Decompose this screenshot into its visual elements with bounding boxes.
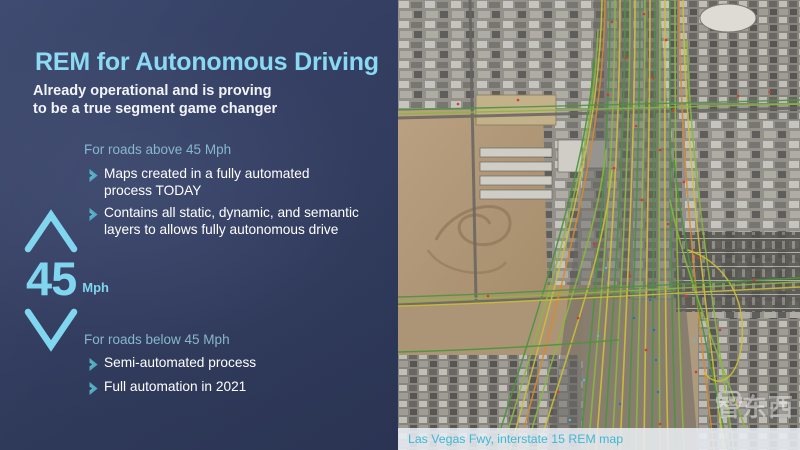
page-subtitle: Already operational and is proving to be… [33, 82, 277, 118]
speed-unit: Mph [82, 280, 109, 295]
speed-number: 45 [26, 258, 76, 300]
list-item-text: Contains all static, dynamic, and semant… [104, 205, 359, 238]
list-item-line-1: Contains all static, dynamic, and semant… [104, 205, 359, 222]
map-graphic [398, 0, 800, 450]
list-item-line-2: layers to allows fully autonomous drive [104, 222, 359, 239]
list-item-text: Semi-automated process [104, 355, 256, 372]
bullet-list-below: Semi-automated process Full automation i… [88, 355, 388, 403]
chevron-right-bullet-icon [88, 167, 103, 184]
list-item-line-1: Maps created in a fully automated [104, 166, 309, 183]
chevron-right-bullet-icon [88, 380, 103, 397]
slide-root: REM for Autonomous Driving Already opera… [0, 0, 800, 450]
bullet-list-above: Maps created in a fully automated proces… [88, 166, 388, 244]
chevron-right-bullet-icon [88, 206, 103, 223]
list-item: Contains all static, dynamic, and semant… [88, 205, 388, 238]
chevron-up-icon [24, 208, 78, 253]
chevron-right-bullet-icon [88, 356, 103, 373]
list-item: Semi-automated process [88, 355, 388, 373]
speed-threshold-value: 45 Mph [26, 258, 109, 300]
chevron-down-icon [24, 308, 78, 353]
list-item: Maps created in a fully automated proces… [88, 166, 388, 199]
subtitle-line-2: to be a true segment game changer [33, 100, 277, 118]
map-caption-text: Las Vegas Fwy, interstate 15 REM map [408, 432, 623, 446]
left-content-panel: REM for Autonomous Driving Already opera… [0, 0, 398, 450]
aerial-map-image: 智东西 Las Vegas Fwy, interstate 15 REM map [398, 0, 800, 450]
watermark: 智东西 [716, 388, 794, 424]
robot-icon [716, 388, 742, 412]
list-item-line-1: Full automation in 2021 [104, 379, 246, 396]
map-caption: Las Vegas Fwy, interstate 15 REM map [398, 428, 800, 450]
subtitle-line-1: Already operational and is proving [33, 82, 277, 100]
section-heading-above: For roads above 45 Mph [84, 142, 231, 157]
list-item-text: Full automation in 2021 [104, 379, 246, 396]
section-heading-below: For roads below 45 Mph [84, 332, 230, 347]
list-item: Full automation in 2021 [88, 379, 388, 397]
list-item-line-1: Semi-automated process [104, 355, 256, 372]
list-item-text: Maps created in a fully automated proces… [104, 166, 309, 199]
page-title: REM for Autonomous Driving [35, 48, 379, 77]
list-item-line-2: process TODAY [104, 183, 309, 200]
